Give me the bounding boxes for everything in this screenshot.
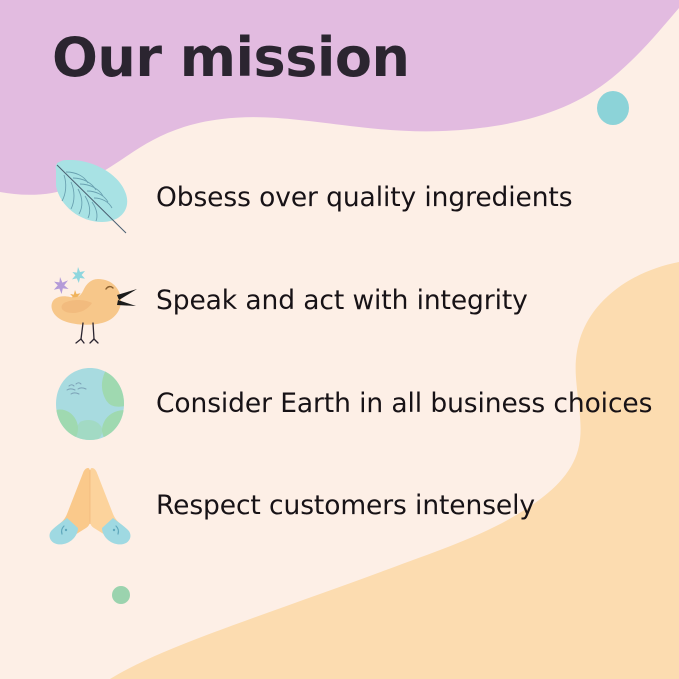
- mission-poster: Our mission: [0, 0, 679, 679]
- mission-item-0: Obsess over quality ingredients: [34, 146, 654, 250]
- teal-circle-dot: [597, 91, 629, 125]
- bird-icon: [34, 249, 146, 353]
- mission-item-label-1: Speak and act with integrity: [146, 286, 528, 315]
- globe-earth-icon: [34, 352, 146, 456]
- green-circle-dot: [112, 586, 130, 604]
- mission-item-1: Speak and act with integrity: [34, 249, 654, 353]
- mission-list: Obsess over quality ingredients: [0, 0, 679, 679]
- mission-item-label-3: Respect customers intensely: [146, 491, 535, 520]
- poster-content: Our mission: [0, 0, 679, 679]
- leaf-icon: [34, 146, 146, 250]
- mission-item-3: Respect customers intensely: [34, 454, 654, 558]
- praying-hands-icon: [34, 454, 146, 558]
- mission-item-label-2: Consider Earth in all business choices: [146, 389, 652, 418]
- mission-item-2: Consider Earth in all business choices: [34, 352, 654, 456]
- mission-item-label-0: Obsess over quality ingredients: [146, 183, 572, 212]
